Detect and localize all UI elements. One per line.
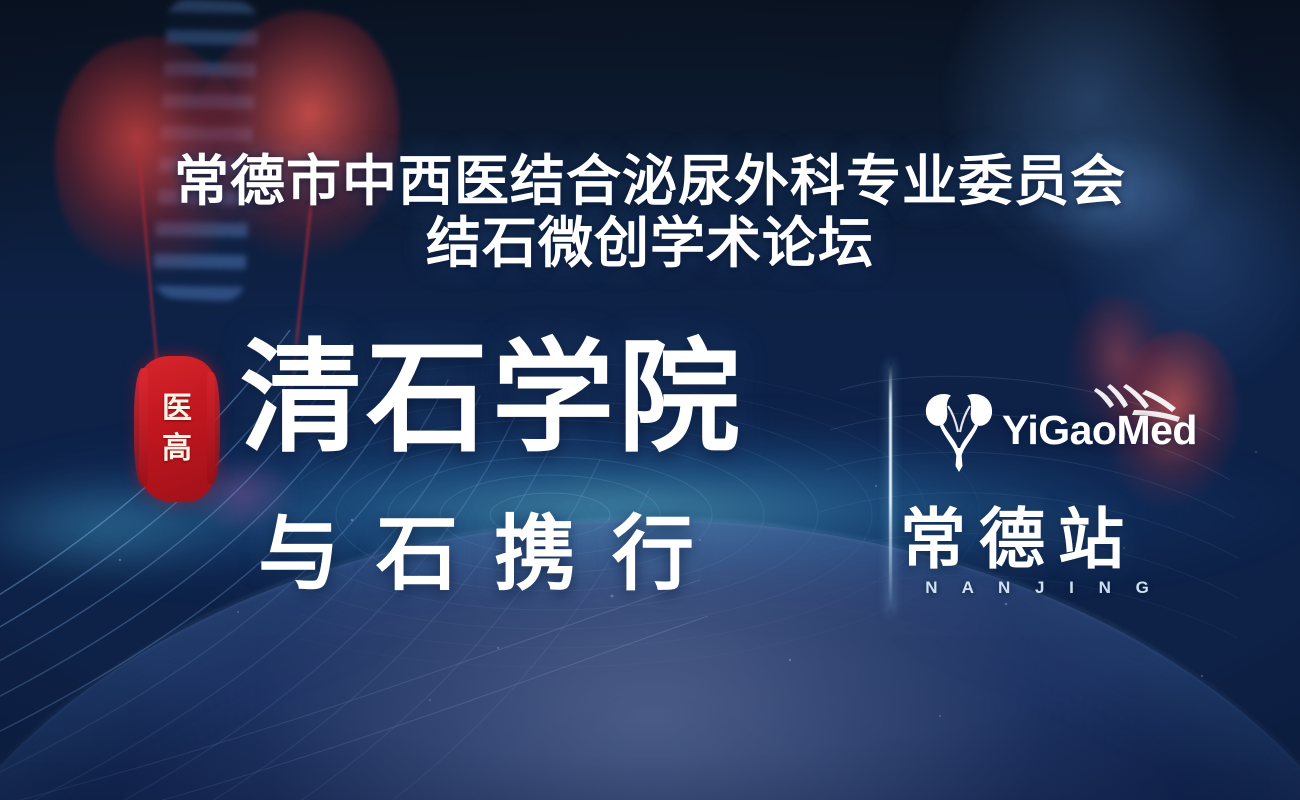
conference-poster: 常德市中西医结合泌尿外科专业委员会 结石微创学术论坛 医 高 清石学院 与石携行 xyxy=(0,0,1300,800)
kidney-ureter-icon xyxy=(918,388,1000,472)
sponsor-brandmark: YiGaoMed xyxy=(918,386,1218,472)
poster-content: 常德市中西医结合泌尿外科专业委员会 结石微创学术论坛 医 高 清石学院 与石携行 xyxy=(0,0,1300,800)
brand-tagline-cn: 与石携行 xyxy=(258,512,730,598)
brand-name-cn: 清石学院 xyxy=(240,336,744,460)
station-name: 常德站 xyxy=(900,504,1200,576)
station-pinyin: N A N J I N G xyxy=(906,578,1178,598)
headline-line-2: 结石微创学术论坛 xyxy=(0,212,1300,274)
seal-stamp: 医 高 xyxy=(139,356,215,502)
event-headline: 常德市中西医结合泌尿外科专业委员会 结石微创学术论坛 xyxy=(0,150,1300,274)
vertical-divider xyxy=(889,362,892,614)
seal-char-top: 医 xyxy=(162,394,192,424)
sponsor-wordmark: YiGaoMed xyxy=(1002,408,1197,452)
seal-characters: 医 高 xyxy=(139,356,215,502)
seal-char-bottom: 高 xyxy=(162,434,192,464)
headline-line-1: 常德市中西医结合泌尿外科专业委员会 xyxy=(174,149,1126,213)
